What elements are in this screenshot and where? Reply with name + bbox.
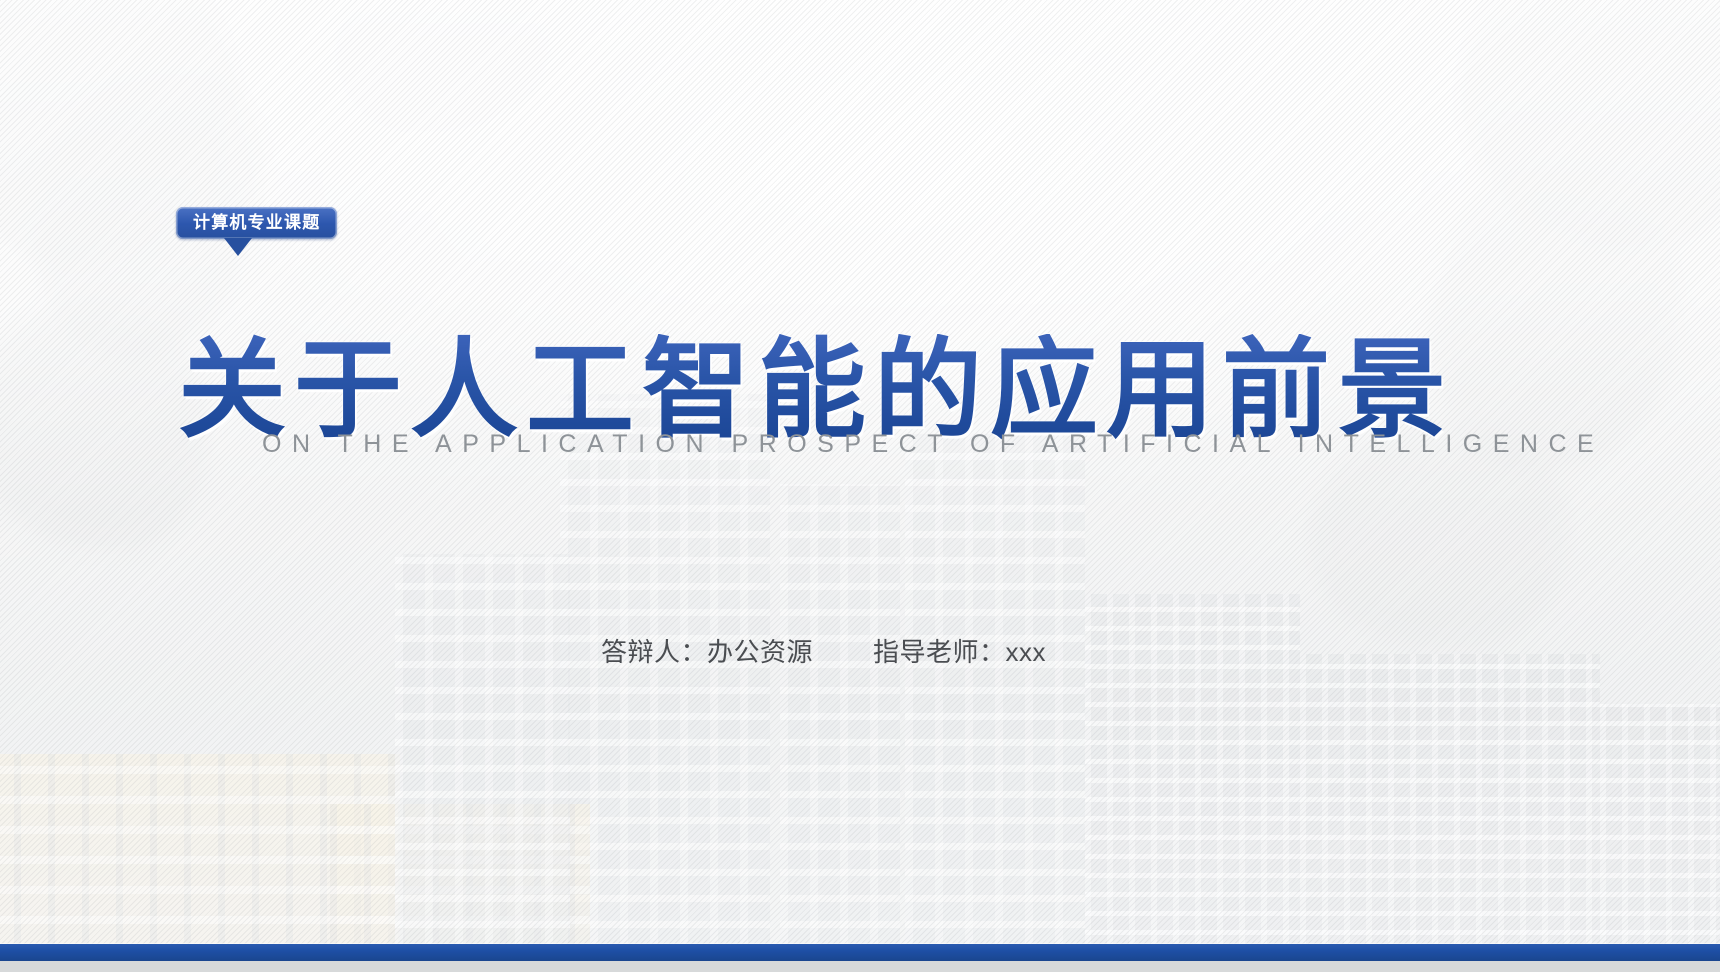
topic-badge: 计算机专业课题: [176, 207, 337, 239]
topic-badge-label: 计算机专业课题: [176, 207, 337, 239]
title-slide: 计算机专业课题 关于人工智能的应用前景 ON THE APPLICATION P…: [0, 0, 1720, 972]
advisor-name-label: 指导老师：xxx: [873, 637, 1046, 667]
page-subtitle-english: ON THE APPLICATION PROSPECT OF ARTIFICIA…: [262, 430, 1604, 459]
bottom-edge-strip: [0, 961, 1720, 972]
presenter-name-label: 答辩人：办公资源: [601, 637, 813, 667]
bottom-accent-bar: [0, 944, 1720, 961]
presenter-line: 答辩人：办公资源指导老师：xxx: [601, 632, 1046, 669]
badge-tail-pointer: [224, 238, 252, 256]
